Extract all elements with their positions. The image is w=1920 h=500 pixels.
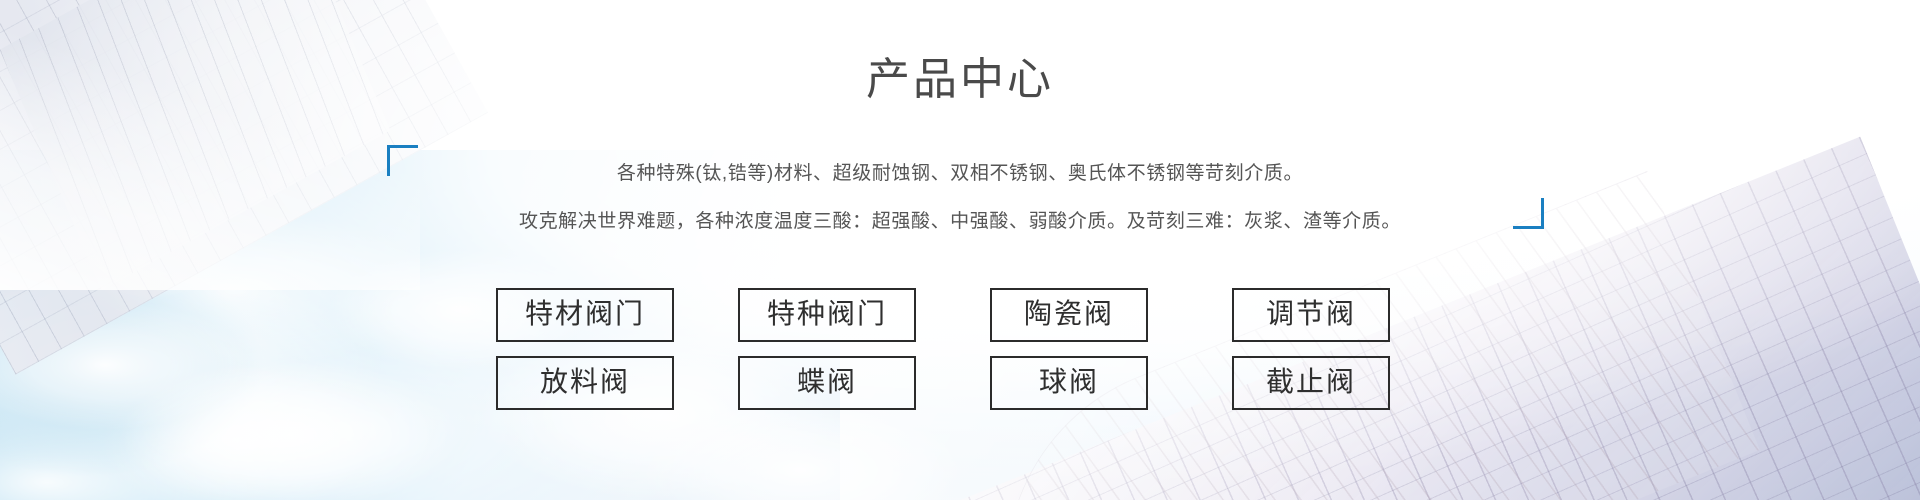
description-line-1: 各种特殊(钛,锆等)材料、超级耐蚀钢、双相不锈钢、奥氏体不锈钢等苛刻介质。 xyxy=(0,150,1920,198)
category-row-2: 放料阀 蝶阀 球阀 截止阀 xyxy=(495,356,1435,410)
category-button-jiezhi-fa[interactable]: 截止阀 xyxy=(1232,356,1390,410)
category-button-die-fa[interactable]: 蝶阀 xyxy=(738,356,916,410)
banner-content: 产品中心 各种特殊(钛,锆等)材料、超级耐蚀钢、双相不锈钢、奥氏体不锈钢等苛刻介… xyxy=(0,0,1920,500)
category-cell: 截止阀 xyxy=(1221,356,1401,410)
decorative-bracket-top-left xyxy=(387,145,418,176)
category-row-1: 特材阀门 特种阀门 陶瓷阀 调节阀 xyxy=(495,288,1435,342)
category-cell: 蝶阀 xyxy=(737,356,917,410)
decorative-bracket-bottom-right xyxy=(1513,198,1544,229)
category-button-qiu-fa[interactable]: 球阀 xyxy=(990,356,1148,410)
description-block: 各种特殊(钛,锆等)材料、超级耐蚀钢、双相不锈钢、奥氏体不锈钢等苛刻介质。 攻克… xyxy=(0,150,1920,246)
description-line-2: 攻克解决世界难题，各种浓度温度三酸：超强酸、中强酸、弱酸介质。及苛刻三难：灰浆、… xyxy=(0,198,1920,246)
category-button-techai-famen[interactable]: 特材阀门 xyxy=(496,288,674,342)
category-button-taoci-fa[interactable]: 陶瓷阀 xyxy=(990,288,1148,342)
category-cell: 放料阀 xyxy=(495,356,675,410)
category-cell: 陶瓷阀 xyxy=(979,288,1159,342)
category-grid: 特材阀门 特种阀门 陶瓷阀 调节阀 放料阀 蝶阀 xyxy=(495,288,1435,410)
category-button-tiaojie-fa[interactable]: 调节阀 xyxy=(1232,288,1390,342)
category-cell: 调节阀 xyxy=(1221,288,1401,342)
category-cell: 特材阀门 xyxy=(495,288,675,342)
category-button-fangliao-fa[interactable]: 放料阀 xyxy=(496,356,674,410)
category-cell: 特种阀门 xyxy=(737,288,917,342)
category-button-tezhong-famen[interactable]: 特种阀门 xyxy=(738,288,916,342)
category-cell: 球阀 xyxy=(979,356,1159,410)
page-title: 产品中心 xyxy=(0,52,1920,108)
product-center-banner: 产品中心 各种特殊(钛,锆等)材料、超级耐蚀钢、双相不锈钢、奥氏体不锈钢等苛刻介… xyxy=(0,0,1920,500)
